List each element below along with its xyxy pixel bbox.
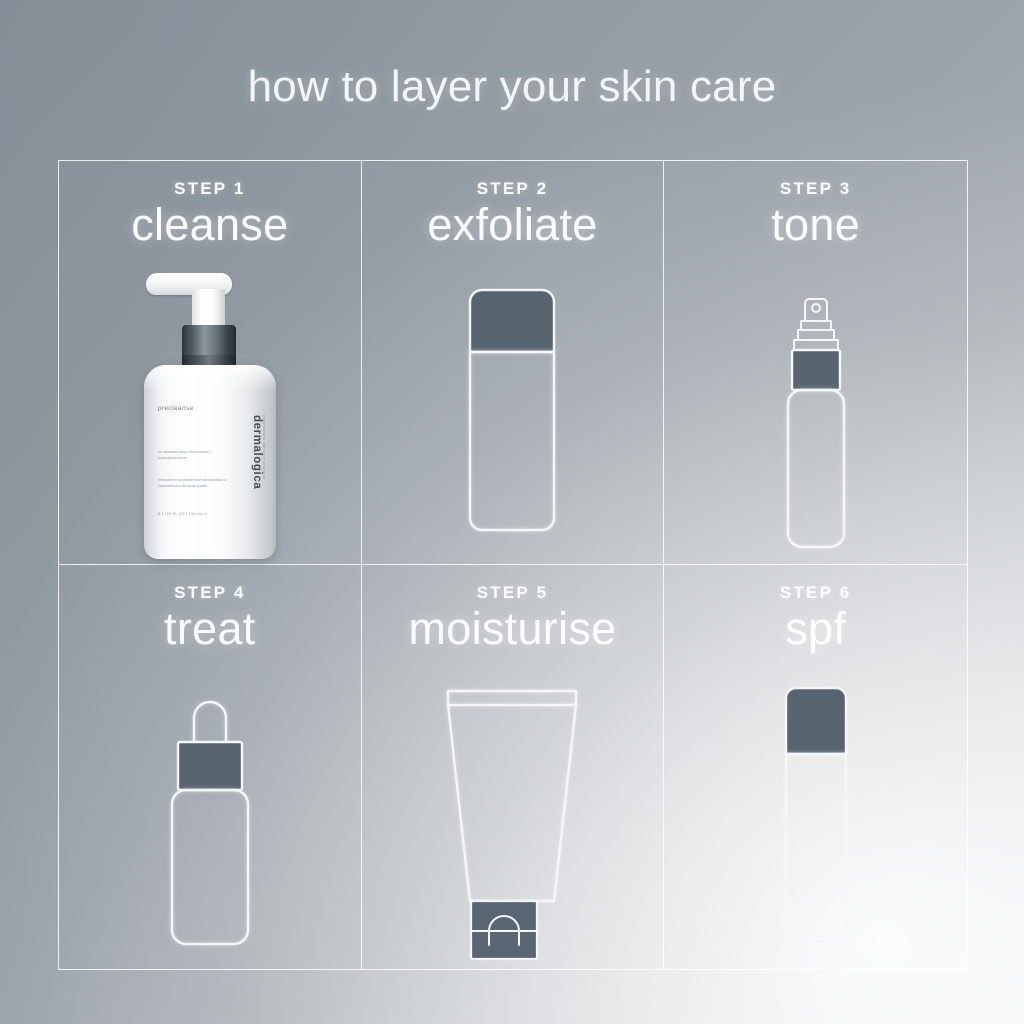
- step-name-label: spf: [664, 603, 967, 655]
- step-number-label: STEP 4: [59, 583, 361, 603]
- product-artwork-tone: [664, 273, 967, 558]
- step-number-label: STEP 5: [362, 583, 664, 603]
- step-name-label: tone: [664, 199, 967, 251]
- product-description-primary: an advanced deep-oil\ncleanser + makeup\…: [158, 449, 224, 463]
- step-cell-exfoliate[interactable]: STEP 2 exfoliate: [362, 161, 665, 565]
- brand-tagline-text: professional skin care products: [262, 415, 267, 479]
- step-number-label: STEP 1: [59, 179, 361, 199]
- slim-spf-bottle-icon: [778, 686, 854, 954]
- product-artwork-cleanse: precleanse an advanced deep-oil\ncleanse…: [59, 273, 361, 558]
- step-name-label: exfoliate: [362, 199, 664, 251]
- step-number-label: STEP 6: [664, 583, 967, 603]
- step-name-label: cleanse: [59, 199, 361, 251]
- bottle-body-icon: precleanse an advanced deep-oil\ncleanse…: [144, 365, 276, 559]
- step-number-label: STEP 3: [664, 179, 967, 199]
- step-name-label: treat: [59, 603, 361, 655]
- infographic-canvas: how to layer your skin care STEP 1 clean…: [0, 0, 1024, 1024]
- step-cell-treat[interactable]: STEP 4 treat: [59, 565, 362, 969]
- product-description-secondary: nettoyant en profondeur\net demaquillant…: [158, 477, 228, 491]
- steps-grid: STEP 1 cleanse precleanse an advanced de…: [58, 160, 968, 970]
- exfoliant-bottle-icon: [458, 288, 566, 544]
- step-cell-cleanse[interactable]: STEP 1 cleanse precleanse an advanced de…: [59, 161, 362, 565]
- squeeze-tube-icon: [437, 685, 587, 955]
- pump-bottle-photo-icon: precleanse an advanced deep-oil\ncleanse…: [144, 273, 276, 559]
- step-cell-tone[interactable]: STEP 3 tone: [664, 161, 967, 565]
- step-cell-spf[interactable]: STEP 6 spf: [664, 565, 967, 969]
- step-number-label: STEP 2: [362, 179, 664, 199]
- step-cell-moisturise[interactable]: STEP 5 moisturise: [362, 565, 665, 969]
- step-name-label: moisturise: [362, 603, 664, 655]
- product-artwork-treat: [59, 677, 361, 963]
- product-name-text: precleanse: [158, 405, 194, 412]
- product-volume-text: 5.1 US FL OZ / 150 mL e: [158, 511, 207, 516]
- product-artwork-moisturise: [362, 677, 664, 963]
- mist-spray-bottle-icon: [770, 275, 862, 557]
- page-title: how to layer your skin care: [0, 62, 1024, 112]
- product-artwork-exfoliate: [362, 273, 664, 558]
- product-artwork-spf: [664, 677, 967, 963]
- dropper-serum-bottle-icon: [158, 684, 262, 956]
